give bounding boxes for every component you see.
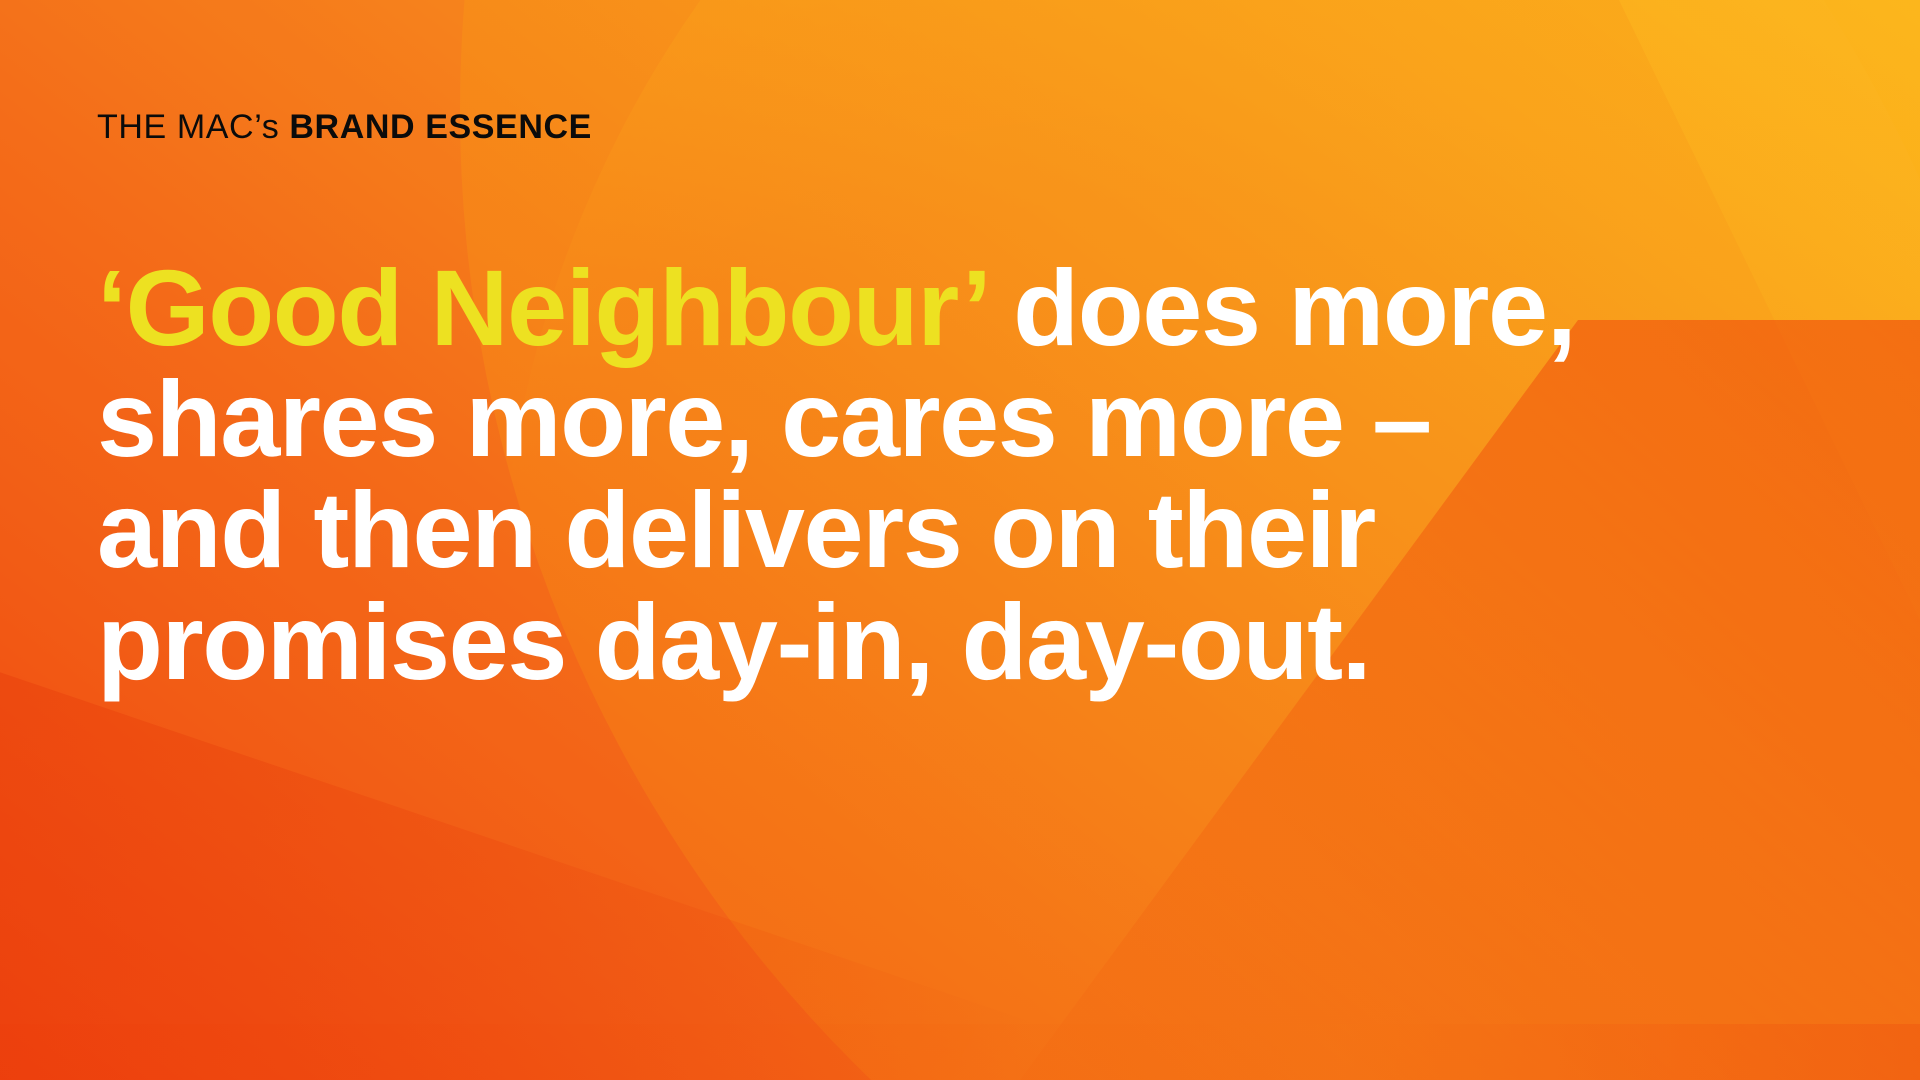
headline-line-4-text: promises day-in, day-out.	[97, 581, 1370, 702]
headline-accent-phrase: ‘Good Neighbour’	[97, 247, 985, 368]
headline-line-1: ‘Good Neighbour’ does more,	[97, 252, 1517, 363]
headline-line-1-rest: does more,	[985, 247, 1576, 368]
headline-statement: ‘Good Neighbour’ does more, shares more,…	[97, 252, 1517, 697]
headline-line-2-text: shares more, cares more –	[97, 358, 1431, 479]
eyebrow-label: THE MAC’s BRAND ESSENCE	[97, 110, 592, 144]
eyebrow-emphasis: BRAND ESSENCE	[289, 108, 592, 146]
headline-line-2: shares more, cares more –	[97, 363, 1517, 474]
slide-canvas: THE MAC’s BRAND ESSENCE ‘Good Neighbour’…	[0, 0, 1920, 1080]
slide-content: THE MAC’s BRAND ESSENCE ‘Good Neighbour’…	[0, 0, 1920, 1080]
headline-line-3: and then delivers on their	[97, 474, 1517, 585]
headline-line-4: promises day-in, day-out.	[97, 586, 1517, 697]
headline-line-3-text: and then delivers on their	[97, 469, 1375, 590]
eyebrow-prefix: THE MAC’s	[97, 108, 289, 146]
